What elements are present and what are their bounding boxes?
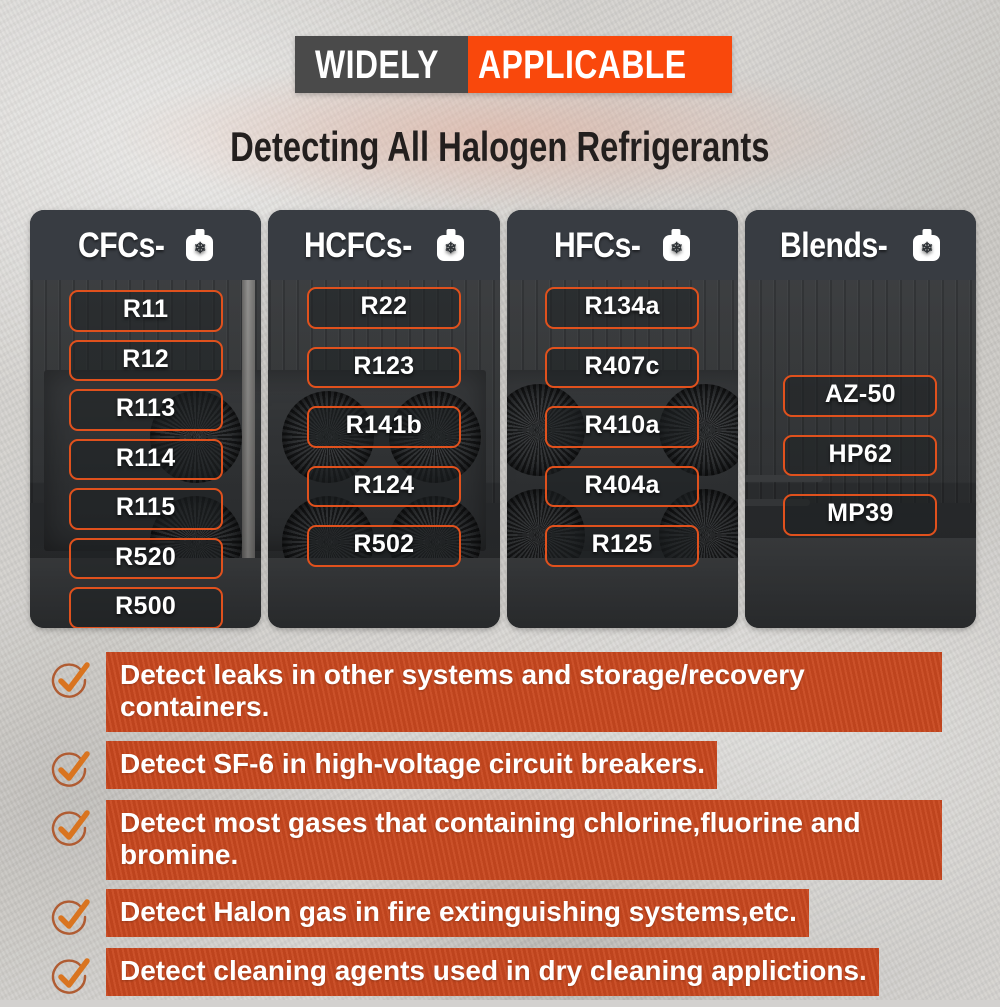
panel-title-text: CFCs- <box>78 228 164 263</box>
refrigerant-chip[interactable]: R125 <box>545 525 699 567</box>
list-item: Detect most gases that containing chlori… <box>48 800 980 880</box>
panel-hfcs: HFCs- ❄ R134a R407c R410a R404a R125 <box>507 210 738 628</box>
panel-title-text: HCFCs- <box>304 228 412 263</box>
list-item: Detect Halon gas in fire extinguishing s… <box>48 889 980 939</box>
check-circle-icon <box>48 747 92 791</box>
refrigerant-chip[interactable]: R115 <box>69 488 223 530</box>
check-circle-icon <box>48 658 92 702</box>
refrigerant-chip[interactable]: R500 <box>69 587 223 628</box>
check-circle-icon <box>48 806 92 850</box>
refrigerant-chip[interactable]: R502 <box>307 525 461 567</box>
check-circle-icon <box>48 895 92 939</box>
banner-right-segment: APPLICABLE <box>468 36 733 93</box>
subtitle-text: Detecting All Halogen Refrigerants <box>230 126 769 168</box>
chip-list-blends: AZ-50 HP62 MP39 <box>745 280 976 628</box>
refrigerant-chip[interactable]: R520 <box>69 538 223 580</box>
panel-header-hcfcs: HCFCs- ❄ <box>268 210 499 280</box>
refrigerant-chip[interactable]: R410a <box>545 406 699 448</box>
refrigerant-chip[interactable]: AZ-50 <box>783 375 937 417</box>
refrigerant-chip[interactable]: R22 <box>307 287 461 329</box>
header-banner: WIDELY APPLICABLE <box>295 36 732 93</box>
list-item-text: Detect SF-6 in high-voltage circuit brea… <box>106 741 717 789</box>
panel-title: Blends- ❄ <box>780 228 940 263</box>
refrigerant-tank-snowflake-icon: ❄ <box>913 229 940 261</box>
list-item: Detect cleaning agents used in dry clean… <box>48 948 980 998</box>
refrigerant-chip[interactable]: R12 <box>69 340 223 382</box>
panel-title-text: HFCs- <box>554 228 640 263</box>
list-item: Detect SF-6 in high-voltage circuit brea… <box>48 741 980 791</box>
refrigerant-chip[interactable]: R114 <box>69 439 223 481</box>
feature-list: Detect leaks in other systems and storag… <box>48 652 980 1007</box>
chip-list-cfcs: R11 R12 R113 R114 R115 R520 R500 R503...… <box>30 280 261 628</box>
refrigerant-chip[interactable]: HP62 <box>783 435 937 477</box>
refrigerant-chip[interactable]: MP39 <box>783 494 937 536</box>
panel-header-hfcs: HFCs- ❄ <box>507 210 738 280</box>
panel-title: CFCs- ❄ <box>78 228 214 263</box>
list-item-text: Detect leaks in other systems and storag… <box>106 652 942 732</box>
list-item: Detect leaks in other systems and storag… <box>48 652 980 732</box>
refrigerant-tank-snowflake-icon: ❄ <box>437 229 464 261</box>
check-circle-icon <box>48 954 92 998</box>
list-item-text: Detect cleaning agents used in dry clean… <box>106 948 879 996</box>
refrigerant-chip[interactable]: R134a <box>545 287 699 329</box>
refrigerant-chip[interactable]: R404a <box>545 466 699 508</box>
banner-word-widely: WIDELY <box>315 45 439 85</box>
panel-title-text: Blends- <box>780 228 887 263</box>
refrigerant-tank-snowflake-icon: ❄ <box>186 229 213 261</box>
refrigerant-chip[interactable]: R124 <box>307 466 461 508</box>
panel-title: HFCs- ❄ <box>554 228 690 263</box>
panel-hcfcs: HCFCs- ❄ R22 R123 R141b R124 R502 <box>268 210 499 628</box>
refrigerant-tank-snowflake-icon: ❄ <box>663 229 690 261</box>
panel-header-cfcs: CFCs- ❄ <box>30 210 261 280</box>
list-item-text: Detect most gases that containing chlori… <box>106 800 942 880</box>
panel-title: HCFCs- ❄ <box>304 228 464 263</box>
refrigerant-chip[interactable]: R11 <box>69 290 223 332</box>
chip-list-hfcs: R134a R407c R410a R404a R125 <box>507 280 738 628</box>
refrigerant-chip[interactable]: R141b <box>307 406 461 448</box>
banner-word-applicable: APPLICABLE <box>478 45 686 85</box>
subtitle: Detecting All Halogen Refrigerants <box>0 126 1000 168</box>
list-item-text: Detect Halon gas in fire extinguishing s… <box>106 889 809 937</box>
refrigerant-chip[interactable]: R123 <box>307 347 461 389</box>
panel-cfcs: CFCs- ❄ R11 R12 R113 R114 R115 R520 R500… <box>30 210 261 628</box>
chip-list-hcfcs: R22 R123 R141b R124 R502 <box>268 280 499 628</box>
banner-left-segment: WIDELY <box>295 36 468 93</box>
panel-header-blends: Blends- ❄ <box>745 210 976 280</box>
panel-blends: Blends- ❄ AZ-50 HP62 MP39 <box>745 210 976 628</box>
refrigerant-chip[interactable]: R407c <box>545 347 699 389</box>
refrigerant-chip[interactable]: R113 <box>69 389 223 431</box>
refrigerant-panels: CFCs- ❄ R11 R12 R113 R114 R115 R520 R500… <box>30 210 976 628</box>
